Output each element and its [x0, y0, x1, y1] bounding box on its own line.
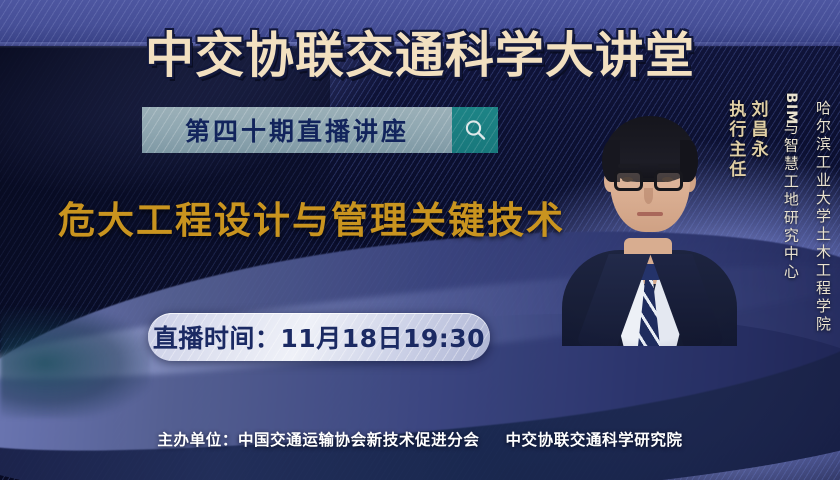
speaker-research-center: BIM与智慧工地研究中心 [774, 100, 807, 282]
footer-label: 主办单位： [157, 431, 238, 449]
live-time-badge: 直播时间：11月18日19:30 [148, 313, 490, 361]
speaker-organization: 哈尔滨工业大学土木工程学院 [813, 100, 832, 334]
live-time-text: 直播时间：11月18日19:30 [153, 319, 485, 355]
page-title: 中交协联交通科学大讲堂 [0, 16, 840, 87]
footer-org-1: 中国交通运输协会新技术促进分会 [238, 431, 480, 449]
subtitle-bar: 第四十期直播讲座 [142, 107, 452, 153]
organizer-footer: 主办单位：中国交通运输协会新技术促进分会中交协联交通科学研究院 [0, 428, 840, 450]
footer-org-2: 中交协联交通科学研究院 [505, 431, 682, 449]
live-lecture-poster: 中交协联交通科学大讲堂 第四十期直播讲座 危大工程设计与管理关键技术 直播时间：… [0, 0, 840, 480]
search-button[interactable] [452, 107, 498, 153]
lecture-headline: 危大工程设计与管理关键技术 [58, 190, 565, 244]
speaker-role: 执行主任 [725, 100, 745, 180]
research-center-suffix: 与智慧工地研究中心 [782, 120, 800, 282]
search-icon [463, 118, 488, 143]
subtitle-label: 第四十期直播讲座 [185, 112, 409, 148]
speaker-portrait [562, 88, 737, 346]
background-teal-accent [0, 308, 150, 418]
bim-letters: BIM [782, 92, 800, 125]
speaker-name: 刘昌永 [747, 100, 767, 160]
speaker-name-role: 刘昌永执行主任 [724, 100, 768, 180]
speaker-info-vertical: 哈尔滨工业大学土木工程学院 BIM与智慧工地研究中心 刘昌永执行主任 [724, 100, 832, 334]
portrait-edge-fade [562, 88, 737, 346]
subtitle-banner: 第四十期直播讲座 [142, 107, 498, 153]
